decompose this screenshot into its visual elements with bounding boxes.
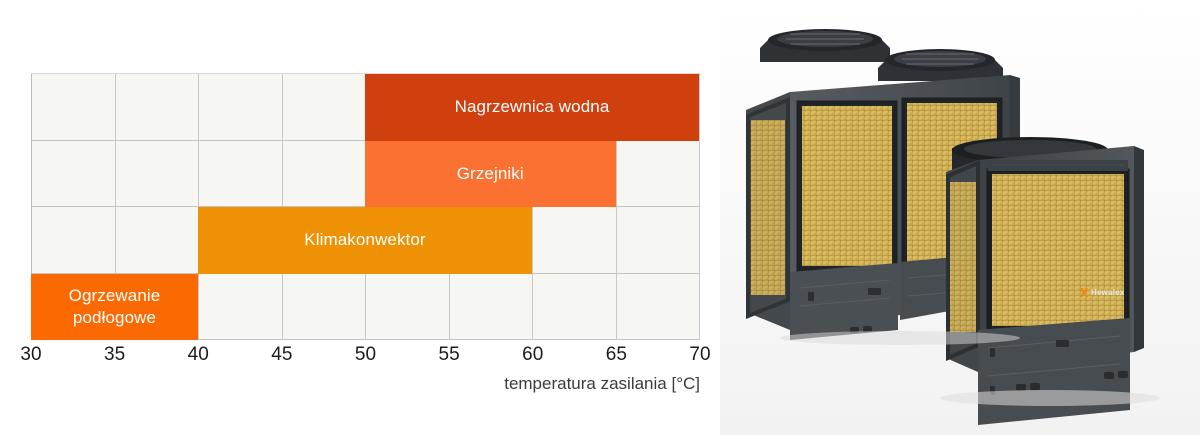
- x-tick-label: 50: [355, 344, 376, 366]
- hewalex-mark-icon: [1080, 288, 1088, 297]
- chart-plot-area: Nagrzewnica wodnaGrzejnikiKlimakonwektor…: [31, 73, 700, 340]
- x-tick-label: 60: [522, 344, 543, 366]
- infographic-page: Nagrzewnica wodnaGrzejnikiKlimakonwektor…: [0, 0, 1200, 435]
- hewalex-logo: Hewalex: [1080, 288, 1124, 297]
- x-tick-label: 65: [606, 344, 627, 366]
- product-photo: Hewalex: [720, 0, 1200, 435]
- x-tick-label: 35: [104, 344, 125, 366]
- x-tick-label: 45: [271, 344, 292, 366]
- hewalex-wordmark: Hewalex: [1091, 288, 1124, 297]
- x-tick-label: 55: [439, 344, 460, 366]
- x-axis-tick-labels: 303540455055606570: [31, 344, 700, 372]
- bar-1: Grzejniki: [365, 141, 616, 208]
- bar-0: Nagrzewnica wodna: [365, 74, 699, 141]
- chart-bars: Nagrzewnica wodnaGrzejnikiKlimakonwektor…: [31, 74, 699, 340]
- bar-2: Klimakonwektor: [198, 207, 532, 274]
- x-axis-title: temperatura zasilania [°C]: [31, 374, 700, 394]
- x-tick-label: 40: [188, 344, 209, 366]
- x-tick-label: 30: [20, 344, 41, 366]
- heat-pump-units-illustration: [720, 0, 1200, 435]
- bar-3: Ogrzewanie podłogowe: [31, 274, 198, 341]
- gridline-vertical: [699, 74, 700, 340]
- temperature-range-chart: Nagrzewnica wodnaGrzejnikiKlimakonwektor…: [0, 0, 720, 435]
- x-tick-label: 70: [689, 344, 710, 366]
